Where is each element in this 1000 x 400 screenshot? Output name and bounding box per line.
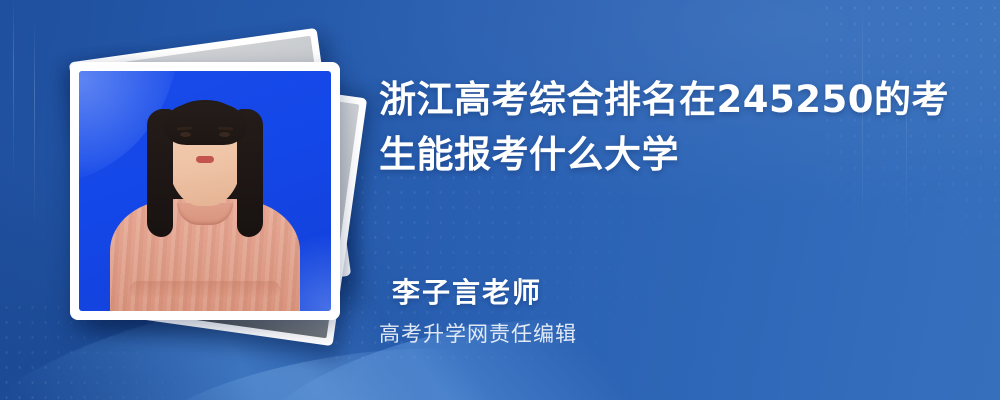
decorative-vertical-line: [13, 0, 14, 180]
banner-text-content: 浙江高考综合排名在245250的考生能报考什么大学 李子言老师 高考升学网责任编…: [379, 0, 979, 400]
article-title: 浙江高考综合排名在245250的考生能报考什么大学: [379, 72, 969, 182]
article-title-line-2: 能报考什么大学: [417, 133, 680, 176]
portrait-eyebrow: [177, 126, 192, 130]
decorative-vertical-line: [34, 20, 35, 230]
author-photo-card: [70, 62, 340, 320]
photo-card-stack: [55, 28, 365, 363]
portrait-mouth: [196, 156, 214, 163]
portrait-waistband: [130, 281, 280, 297]
portrait-eyebrow: [218, 126, 233, 130]
author-photo: [79, 71, 331, 311]
portrait-fringe: [163, 103, 247, 145]
author-role: 高考升学网责任编辑: [379, 318, 577, 348]
author-name: 李子言老师: [392, 271, 542, 311]
article-header-banner: 浙江高考综合排名在245250的考生能报考什么大学 李子言老师 高考升学网责任编…: [0, 0, 1000, 400]
portrait-icon: [79, 71, 331, 311]
